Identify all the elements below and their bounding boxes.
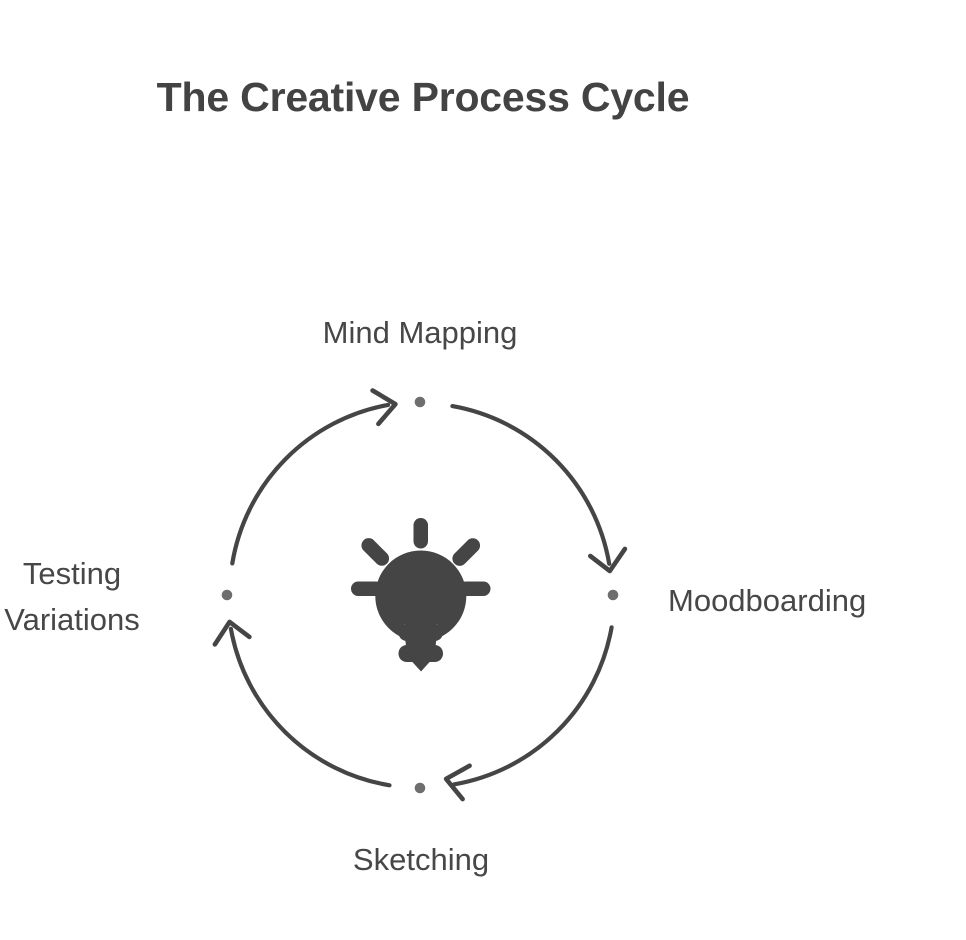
node-dot-moodboarding bbox=[608, 590, 619, 601]
node-dot-sketching bbox=[415, 783, 426, 794]
diagram-canvas: The Creative Process Cycle bbox=[0, 0, 966, 940]
edge-moodboarding-to-sketching bbox=[446, 627, 611, 799]
node-dot-testing-variations bbox=[222, 590, 233, 601]
lightbulb-base-bar-2 bbox=[399, 645, 444, 662]
node-label-testing-variations: Testing Variations bbox=[0, 551, 182, 643]
arc-path bbox=[454, 627, 612, 784]
lightbulb-ray-upper-right bbox=[449, 535, 483, 569]
arc-path bbox=[231, 629, 390, 786]
lightbulb-base-tip bbox=[412, 661, 431, 672]
node-label-sketching: Sketching bbox=[221, 837, 621, 883]
node-dot-mind-mapping bbox=[415, 397, 426, 408]
edge-sketching-to-testing-variations bbox=[215, 622, 390, 785]
node-label-moodboarding: Moodboarding bbox=[668, 578, 966, 624]
lightbulb-ray-top bbox=[414, 518, 429, 549]
node-label-mind-mapping: Mind Mapping bbox=[220, 310, 620, 356]
lightbulb-ray-upper-left bbox=[358, 535, 392, 569]
edge-testing-variations-to-mind-mapping bbox=[232, 391, 395, 564]
cycle-graphic bbox=[0, 0, 966, 940]
lightbulb-icon bbox=[351, 518, 491, 672]
cycle-diagram: Mind Mapping Moodboarding Sketching Test… bbox=[0, 0, 966, 940]
lightbulb-base-bar-1 bbox=[399, 624, 444, 641]
